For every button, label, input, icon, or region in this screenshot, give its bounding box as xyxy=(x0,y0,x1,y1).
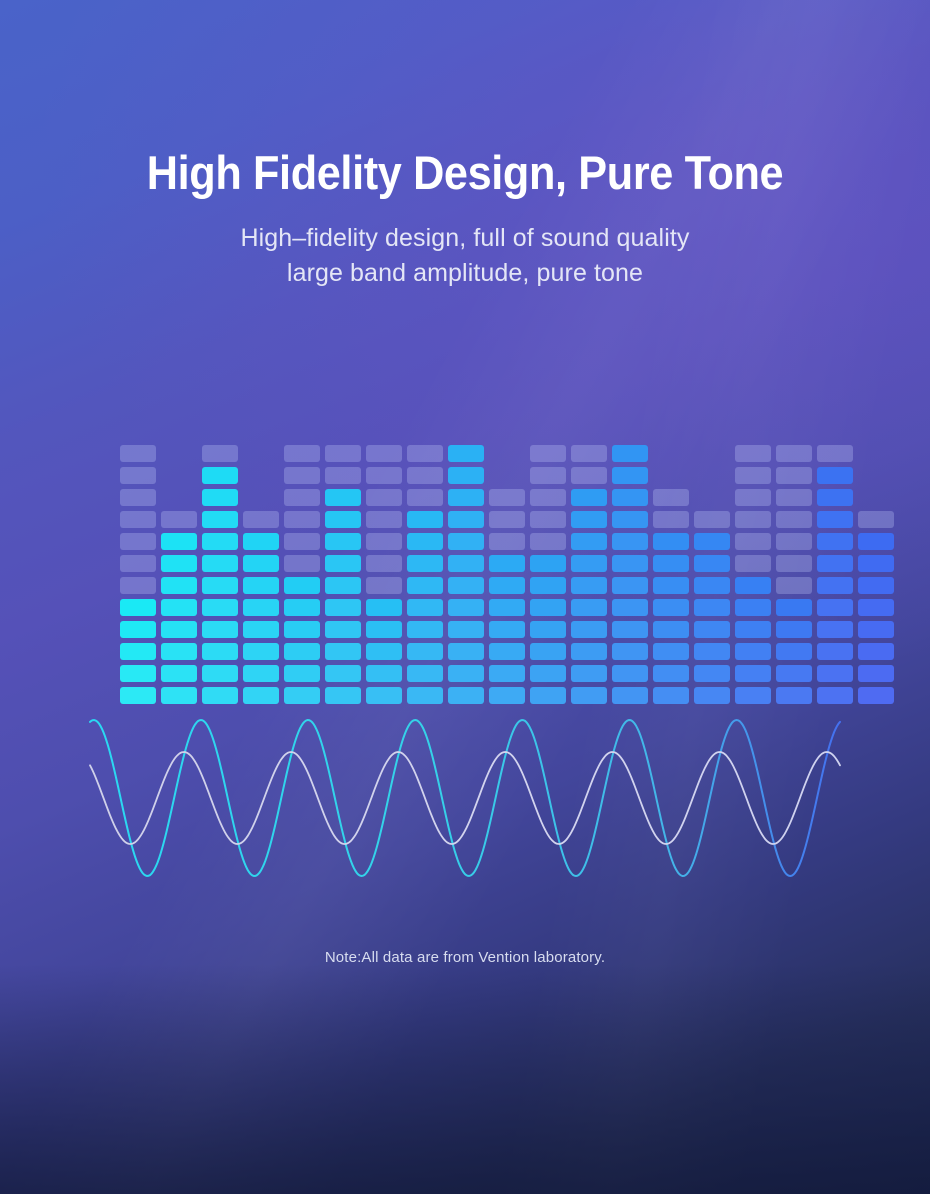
equalizer-cell-lit xyxy=(243,621,279,638)
equalizer-cell-lit xyxy=(202,621,238,638)
page-subtitle: High–fidelity design, full of sound qual… xyxy=(0,221,930,292)
equalizer-cell-lit xyxy=(243,533,279,550)
equalizer-cell-lit xyxy=(571,511,607,528)
equalizer-column xyxy=(489,440,525,704)
equalizer-cell-lit xyxy=(858,665,894,682)
equalizer-cell-lit xyxy=(489,555,525,572)
equalizer-cell-lit xyxy=(161,555,197,572)
equalizer-cell-lit xyxy=(735,643,771,660)
equalizer-cell-dim xyxy=(735,533,771,550)
equalizer-cell-dim xyxy=(366,555,402,572)
equalizer-cell-lit xyxy=(202,643,238,660)
equalizer-cell-lit xyxy=(161,665,197,682)
equalizer-cell-lit xyxy=(817,467,853,484)
equalizer-cell-dim xyxy=(284,489,320,506)
equalizer-cell-lit xyxy=(366,665,402,682)
equalizer-cell-dim xyxy=(120,511,156,528)
equalizer-cell-lit xyxy=(284,577,320,594)
header: High Fidelity Design, Pure Tone High–fid… xyxy=(0,148,930,292)
equalizer-cell-lit xyxy=(448,555,484,572)
equalizer-cell-lit xyxy=(325,643,361,660)
equalizer-cell-dim xyxy=(366,467,402,484)
equalizer-cell-lit xyxy=(407,555,443,572)
equalizer-cell-dim xyxy=(120,533,156,550)
equalizer-cell-lit xyxy=(571,577,607,594)
equalizer-cell-dim xyxy=(653,489,689,506)
equalizer-column xyxy=(161,440,197,704)
equalizer-cell-dim xyxy=(284,533,320,550)
equalizer-cell-lit xyxy=(612,511,648,528)
equalizer-cell-lit xyxy=(448,577,484,594)
equalizer-cell-lit xyxy=(612,599,648,616)
equalizer-cell-lit xyxy=(612,665,648,682)
equalizer-cell-lit xyxy=(694,555,730,572)
equalizer-cell-dim xyxy=(735,555,771,572)
equalizer-cell-lit xyxy=(325,599,361,616)
equalizer-cell-dim xyxy=(243,511,279,528)
equalizer-cell-lit xyxy=(612,445,648,462)
equalizer-cell-dim xyxy=(120,489,156,506)
equalizer-cell-dim xyxy=(284,555,320,572)
equalizer-cell-dim xyxy=(530,445,566,462)
equalizer-cell-lit xyxy=(448,665,484,682)
equalizer-cell-dim xyxy=(530,511,566,528)
equalizer-cell-lit xyxy=(612,467,648,484)
equalizer-cell-lit xyxy=(489,599,525,616)
equalizer-cell-lit xyxy=(202,577,238,594)
equalizer-cell-lit xyxy=(284,621,320,638)
equalizer-cell-dim xyxy=(735,489,771,506)
equalizer-cell-dim xyxy=(284,445,320,462)
equalizer-cell-lit xyxy=(530,555,566,572)
equalizer-cell-lit xyxy=(776,599,812,616)
equalizer-cell-lit xyxy=(817,643,853,660)
footnote: Note:All data are from Vention laborator… xyxy=(0,949,930,966)
equalizer-cell-lit xyxy=(161,599,197,616)
equalizer-cell-dim xyxy=(489,511,525,528)
equalizer-cell-lit xyxy=(571,599,607,616)
equalizer-cell-lit xyxy=(325,577,361,594)
equalizer-cell-lit xyxy=(448,511,484,528)
equalizer-cell-lit xyxy=(694,665,730,682)
equalizer-column xyxy=(530,440,566,704)
equalizer-cell-lit xyxy=(694,643,730,660)
equalizer-cell-dim xyxy=(530,533,566,550)
equalizer-column xyxy=(571,440,607,704)
equalizer-cell-lit xyxy=(858,577,894,594)
equalizer-cell-dim xyxy=(202,445,238,462)
equalizer-cell-lit xyxy=(489,643,525,660)
subtitle-line-2: large band amplitude, pure tone xyxy=(0,256,930,292)
equalizer-cell-lit xyxy=(776,621,812,638)
equalizer-cell-lit xyxy=(202,489,238,506)
equalizer-cell-lit xyxy=(448,621,484,638)
equalizer-cell-lit xyxy=(407,665,443,682)
equalizer-column xyxy=(202,440,238,704)
equalizer-cell-lit xyxy=(120,643,156,660)
equalizer-cell-dim xyxy=(735,445,771,462)
equalizer-cell-dim xyxy=(735,511,771,528)
equalizer-column xyxy=(776,440,812,704)
equalizer-cell-lit xyxy=(448,533,484,550)
promo-banner: High Fidelity Design, Pure Tone High–fid… xyxy=(0,0,930,1194)
equalizer-column xyxy=(243,440,279,704)
equalizer-column xyxy=(407,440,443,704)
equalizer-cell-lit xyxy=(571,621,607,638)
equalizer-cell-lit xyxy=(858,533,894,550)
equalizer-cell-lit xyxy=(530,599,566,616)
equalizer-cell-dim xyxy=(530,489,566,506)
equalizer-cell-dim xyxy=(407,445,443,462)
equalizer-cell-dim xyxy=(776,467,812,484)
equalizer-cell-lit xyxy=(817,665,853,682)
equalizer-cell-lit xyxy=(858,599,894,616)
equalizer-cell-lit xyxy=(817,577,853,594)
equalizer-column xyxy=(612,440,648,704)
equalizer-cell-lit xyxy=(120,599,156,616)
equalizer-cell-lit xyxy=(612,533,648,550)
equalizer-cell-lit xyxy=(161,621,197,638)
equalizer-cell-lit xyxy=(243,665,279,682)
equalizer-cell-lit xyxy=(407,511,443,528)
equalizer-cell-lit xyxy=(448,643,484,660)
equalizer-cell-dim xyxy=(489,489,525,506)
subtitle-line-1: High–fidelity design, full of sound qual… xyxy=(0,221,930,257)
equalizer-cell-lit xyxy=(817,621,853,638)
equalizer-cell-lit xyxy=(202,467,238,484)
equalizer-cell-dim xyxy=(325,467,361,484)
equalizer-cell-dim xyxy=(571,467,607,484)
equalizer-cell-lit xyxy=(448,445,484,462)
equalizer-cell-lit xyxy=(243,599,279,616)
equalizer-cell-lit xyxy=(407,533,443,550)
equalizer-cell-dim xyxy=(776,577,812,594)
equalizer-cell-lit xyxy=(202,599,238,616)
equalizer-cell-lit xyxy=(694,533,730,550)
equalizer-cell-lit xyxy=(243,577,279,594)
equalizer-column xyxy=(325,440,361,704)
equalizer-cell-dim xyxy=(366,577,402,594)
equalizer-cell-lit xyxy=(243,643,279,660)
equalizer-cell-dim xyxy=(407,467,443,484)
equalizer-cell-lit xyxy=(284,643,320,660)
equalizer-cell-dim xyxy=(735,467,771,484)
equalizer-cell-dim xyxy=(653,511,689,528)
equalizer-column xyxy=(120,440,156,704)
equalizer-cell-dim xyxy=(325,445,361,462)
equalizer-cell-dim xyxy=(366,445,402,462)
equalizer-cell-lit xyxy=(530,643,566,660)
equalizer-cell-lit xyxy=(653,577,689,594)
equalizer-cell-lit xyxy=(489,621,525,638)
page-title: High Fidelity Design, Pure Tone xyxy=(37,148,893,199)
equalizer-cell-lit xyxy=(366,599,402,616)
equalizer-cell-lit xyxy=(120,665,156,682)
equalizer-cell-lit xyxy=(325,533,361,550)
equalizer-cell-lit xyxy=(735,599,771,616)
equalizer-cell-dim xyxy=(817,445,853,462)
equalizer-cell-lit xyxy=(325,489,361,506)
equalizer-cell-lit xyxy=(653,555,689,572)
equalizer-cell-lit xyxy=(407,621,443,638)
equalizer-cell-lit xyxy=(612,489,648,506)
equalizer-cell-dim xyxy=(776,555,812,572)
equalizer-cell-lit xyxy=(120,621,156,638)
equalizer-column xyxy=(694,440,730,704)
equalizer-cell-dim xyxy=(571,445,607,462)
equalizer-cell-lit xyxy=(571,533,607,550)
equalizer-column xyxy=(735,440,771,704)
equalizer-cell-dim xyxy=(284,511,320,528)
equalizer-cell-lit xyxy=(202,665,238,682)
equalizer-cell-dim xyxy=(776,511,812,528)
equalizer-cell-lit xyxy=(776,643,812,660)
equalizer-cell-lit xyxy=(817,599,853,616)
equalizer-cell-lit xyxy=(407,599,443,616)
equalizer-cell-lit xyxy=(817,533,853,550)
equalizer-cell-lit xyxy=(325,555,361,572)
waveform-chart xyxy=(80,700,850,895)
equalizer-column xyxy=(817,440,853,704)
equalizer-cell-lit xyxy=(202,533,238,550)
equalizer-cell-dim xyxy=(161,511,197,528)
equalizer-cell-lit xyxy=(694,621,730,638)
equalizer-cell-lit xyxy=(161,577,197,594)
equalizer-cell-lit xyxy=(858,687,894,704)
equalizer-cell-dim xyxy=(120,467,156,484)
equalizer-cell-lit xyxy=(858,555,894,572)
equalizer-cell-dim xyxy=(366,511,402,528)
equalizer-cell-lit xyxy=(202,511,238,528)
equalizer-cell-lit xyxy=(448,599,484,616)
equalizer-cell-lit xyxy=(817,511,853,528)
equalizer-column xyxy=(366,440,402,704)
equalizer-cell-dim xyxy=(120,445,156,462)
equalizer-cell-lit xyxy=(858,643,894,660)
equalizer-cell-lit xyxy=(366,643,402,660)
equalizer-cell-lit xyxy=(161,643,197,660)
equalizer-cell-lit xyxy=(284,599,320,616)
equalizer-cell-dim xyxy=(407,489,443,506)
equalizer-cell-lit xyxy=(407,643,443,660)
equalizer-cell-lit xyxy=(571,555,607,572)
equalizer-cell-lit xyxy=(571,489,607,506)
equalizer-cell-lit xyxy=(571,643,607,660)
equalizer-cell-dim xyxy=(284,467,320,484)
equalizer-cell-dim xyxy=(489,533,525,550)
equalizer-cell-lit xyxy=(694,599,730,616)
equalizer-cell-lit xyxy=(653,643,689,660)
equalizer-cell-lit xyxy=(325,621,361,638)
equalizer-cell-lit xyxy=(653,621,689,638)
equalizer-column xyxy=(448,440,484,704)
equalizer-cell-lit xyxy=(284,665,320,682)
equalizer-cell-lit xyxy=(366,621,402,638)
equalizer-cell-lit xyxy=(448,489,484,506)
equalizer-column xyxy=(858,440,894,704)
equalizer-cell-dim xyxy=(776,533,812,550)
equalizer-cell-lit xyxy=(161,533,197,550)
equalizer-cell-dim xyxy=(694,511,730,528)
equalizer-cell-lit xyxy=(489,577,525,594)
equalizer-cell-dim xyxy=(366,489,402,506)
equalizer-cell-lit xyxy=(858,621,894,638)
equalizer-cell-lit xyxy=(694,577,730,594)
equalizer-cell-lit xyxy=(530,665,566,682)
equalizer-cell-lit xyxy=(735,665,771,682)
equalizer-cell-dim xyxy=(776,445,812,462)
equalizer-cell-lit xyxy=(612,555,648,572)
equalizer-cell-lit xyxy=(571,665,607,682)
equalizer-cell-lit xyxy=(325,511,361,528)
equalizer-cell-dim xyxy=(120,577,156,594)
equalizer-cell-lit xyxy=(448,467,484,484)
equalizer-cell-lit xyxy=(407,577,443,594)
equalizer-cell-lit xyxy=(612,577,648,594)
equalizer-cell-dim xyxy=(776,489,812,506)
equalizer-cell-lit xyxy=(612,621,648,638)
equalizer-column xyxy=(653,440,689,704)
equalizer-chart xyxy=(95,436,840,704)
equalizer-cell-lit xyxy=(817,489,853,506)
equalizer-cell-lit xyxy=(530,577,566,594)
equalizer-cell-lit xyxy=(653,665,689,682)
equalizer-cell-dim xyxy=(858,511,894,528)
equalizer-cell-lit xyxy=(243,555,279,572)
equalizer-cell-lit xyxy=(776,665,812,682)
equalizer-cell-lit xyxy=(653,599,689,616)
equalizer-cell-dim xyxy=(120,555,156,572)
equalizer-cell-dim xyxy=(366,533,402,550)
equalizer-cell-lit xyxy=(202,555,238,572)
equalizer-cell-lit xyxy=(735,621,771,638)
equalizer-column xyxy=(284,440,320,704)
equalizer-cell-lit xyxy=(653,533,689,550)
equalizer-cell-lit xyxy=(325,665,361,682)
equalizer-cell-lit xyxy=(612,643,648,660)
equalizer-cell-lit xyxy=(530,621,566,638)
equalizer-cell-lit xyxy=(817,555,853,572)
equalizer-cell-lit xyxy=(489,665,525,682)
bottom-vignette xyxy=(0,964,930,1194)
equalizer-cell-lit xyxy=(735,577,771,594)
equalizer-cell-dim xyxy=(530,467,566,484)
